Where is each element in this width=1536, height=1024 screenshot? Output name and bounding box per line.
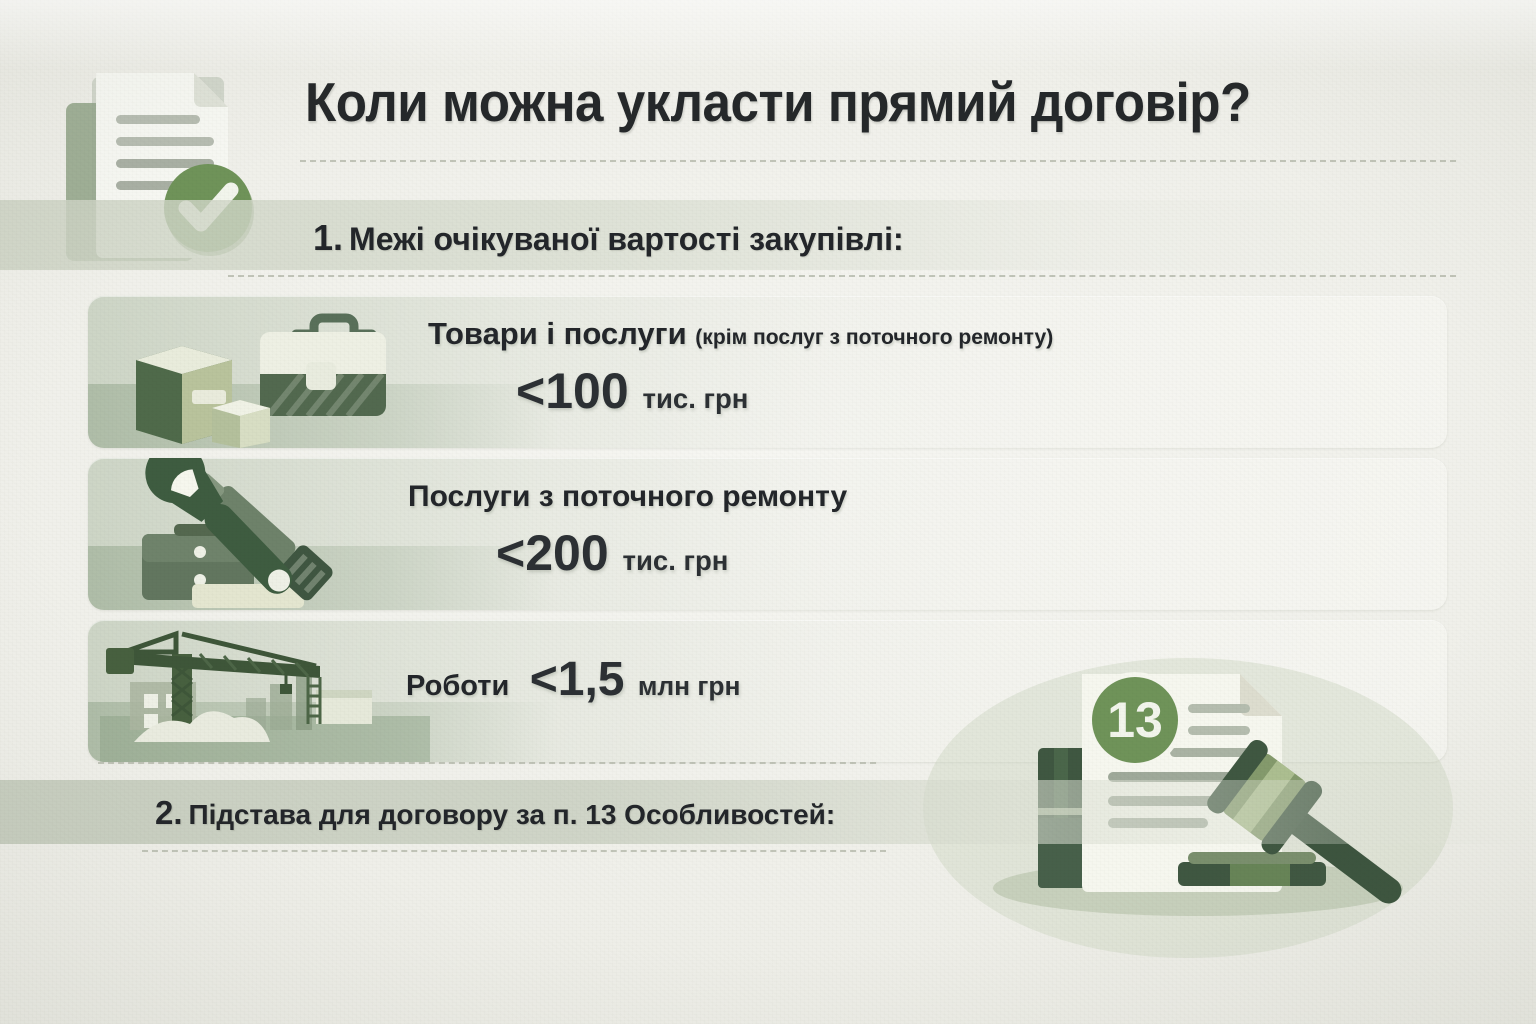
section-2-header: 2.Підстава для договору за п. 13 Особлив… xyxy=(155,794,835,832)
row-2-unit: тис. грн xyxy=(623,545,729,576)
divider-top-section-1 xyxy=(300,160,1456,162)
section-2-label: Підстава для договору за п. 13 Особливос… xyxy=(189,799,836,830)
badge-13-label: 13 xyxy=(1107,692,1163,748)
row-1-text: Товари і послуги (крім послуг з поточног… xyxy=(428,316,1053,420)
row-3-comparator: < xyxy=(530,653,558,706)
row-2-text: Послуги з поточного ремонту <200 тис. гр… xyxy=(408,480,847,582)
goods-boxes-briefcase-icon xyxy=(100,296,430,448)
row-3-text: Роботи <1,5 млн грн xyxy=(406,652,740,707)
row-2-comparator: < xyxy=(496,525,525,581)
row-3-amount: 1,5 xyxy=(558,653,625,706)
section-2-number: 2. xyxy=(155,794,183,831)
construction-crane-icon xyxy=(100,620,430,762)
divider-below-section-1 xyxy=(228,275,1456,277)
row-1-heading: Товари і послуги xyxy=(428,316,687,351)
row-3-unit: млн грн xyxy=(638,671,741,701)
row-1-comparator: < xyxy=(516,363,545,419)
row-1-amount: 100 xyxy=(545,363,628,419)
row-goods[interactable]: Товари і послуги (крім послуг з поточног… xyxy=(88,296,1447,448)
infographic-poster: Коли можна укласти прямий договір? 1.Меж… xyxy=(0,0,1536,1024)
tools-wrench-icon xyxy=(100,458,430,610)
row-2-amount: 200 xyxy=(525,525,608,581)
row-3-heading: Роботи xyxy=(406,670,509,702)
divider-top-section-2 xyxy=(98,762,876,764)
page-title: Коли можна укласти прямий договір? xyxy=(305,74,1347,130)
row-2-heading: Послуги з поточного ремонту xyxy=(408,480,847,513)
section-1-label: Межі очікуваної вартості закупівлі: xyxy=(349,221,904,257)
section-1-header: 1.Межі очікуваної вартості закупівлі: xyxy=(313,217,904,259)
row-1-heading-note: (крім послуг з поточного ремонту) xyxy=(695,326,1053,349)
row-repair[interactable]: Послуги з поточного ремонту <200 тис. гр… xyxy=(88,458,1447,610)
row-1-unit: тис. грн xyxy=(643,383,749,414)
divider-below-section-2 xyxy=(142,850,886,852)
section-1-number: 1. xyxy=(313,217,343,258)
